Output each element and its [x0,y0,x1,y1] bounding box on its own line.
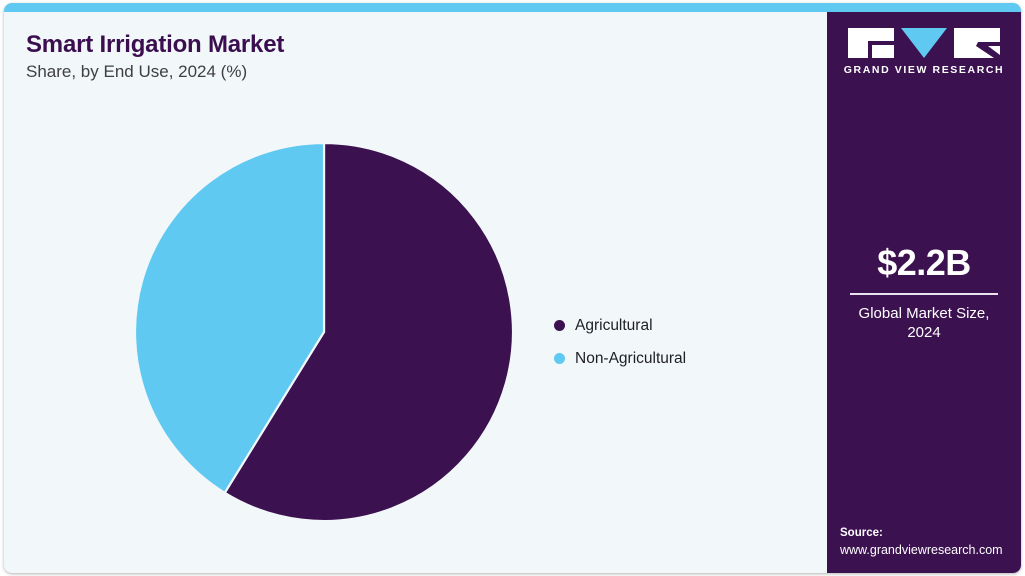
source-block: Source: www.grandviewresearch.com [840,525,1016,559]
logo-wordmark: GRAND VIEW RESEARCH [827,64,1021,76]
legend-swatch-icon [554,320,565,331]
gvr-logo: GRAND VIEW RESEARCH [827,28,1021,76]
legend-item-label: Agricultural [575,317,653,335]
stat-caption: Global Market Size, 2024 [827,304,1021,342]
chart-card: Smart Irrigation Market Share, by End Us… [4,3,1021,573]
chart-legend: Agricultural Non-Agricultural [554,309,804,375]
logo-v-triangle-icon [901,28,947,58]
legend-item-agricultural[interactable]: Agricultural [554,309,804,342]
gvr-logo-mark [848,28,1000,58]
logo-r-icon [954,28,1000,58]
key-stat: $2.2B Global Market Size, 2024 [827,244,1021,342]
stat-value: $2.2B [827,244,1021,282]
logo-g-icon [848,28,894,58]
pie-chart [135,143,513,521]
page-title: Smart Irrigation Market [26,31,284,59]
page-subtitle: Share, by End Use, 2024 (%) [26,62,247,82]
legend-item-label: Non-Agricultural [575,350,686,368]
top-accent-bar [4,3,1021,12]
source-label: Source: [840,525,1016,542]
pie-slices [135,143,513,521]
legend-item-non-agricultural[interactable]: Non-Agricultural [554,342,804,375]
chart-area: Smart Irrigation Market Share, by End Us… [4,12,823,573]
stat-divider [850,293,998,295]
brand-panel: GRAND VIEW RESEARCH $2.2B Global Market … [827,12,1021,573]
source-url[interactable]: www.grandviewresearch.com [840,542,1016,559]
legend-swatch-icon [554,353,565,364]
pie-chart-svg [135,143,513,521]
